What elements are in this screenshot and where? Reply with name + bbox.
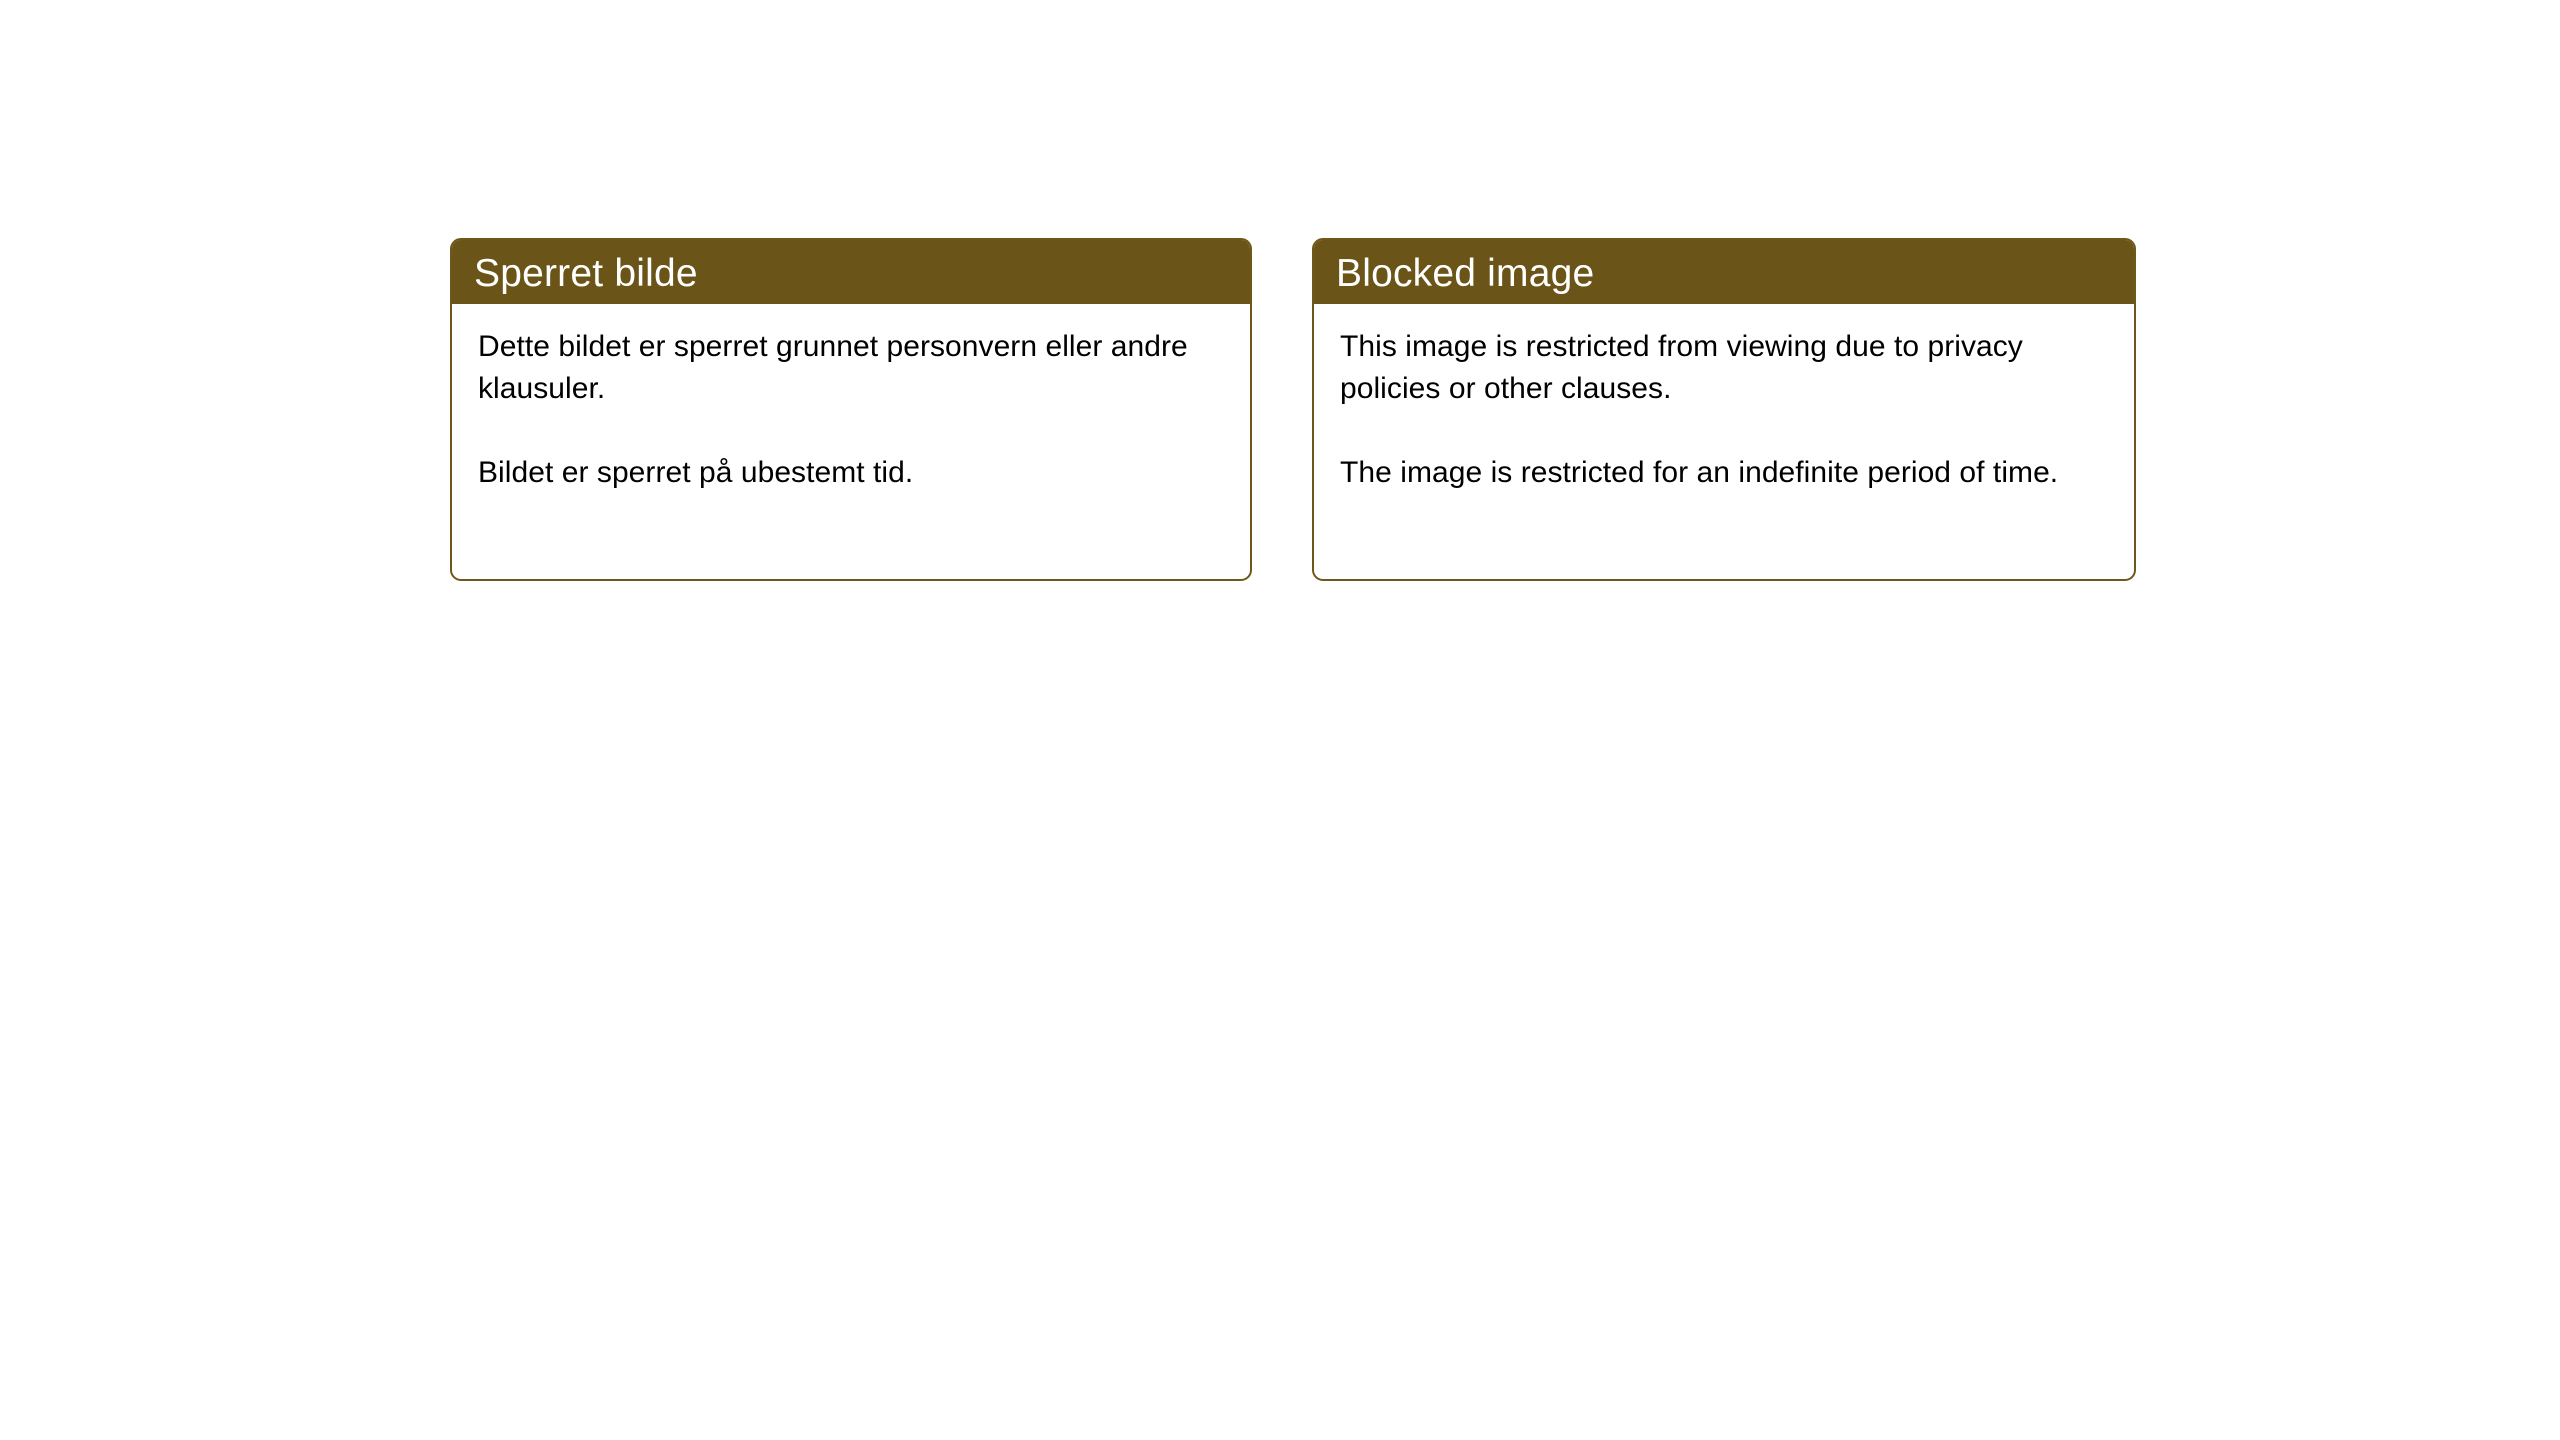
- panel-paragraph-duration-en: The image is restricted for an indefinit…: [1340, 452, 2110, 494]
- panel-title-en: Blocked image: [1336, 254, 1594, 293]
- panel-title-no: Sperret bilde: [474, 254, 698, 293]
- panel-body-no: Dette bildet er sperret grunnet personve…: [452, 304, 1250, 494]
- blocked-image-notice-no: Sperret bilde Dette bildet er sperret gr…: [450, 238, 1252, 581]
- page-root: Sperret bilde Dette bildet er sperret gr…: [0, 0, 2560, 1440]
- panel-header-en: Blocked image: [1314, 240, 2134, 304]
- blocked-image-notice-en: Blocked image This image is restricted f…: [1312, 238, 2136, 581]
- panel-paragraph-reason-no: Dette bildet er sperret grunnet personve…: [478, 326, 1226, 410]
- panel-body-en: This image is restricted from viewing du…: [1314, 304, 2134, 494]
- panel-header-no: Sperret bilde: [452, 240, 1250, 304]
- panel-paragraph-duration-no: Bildet er sperret på ubestemt tid.: [478, 452, 1226, 494]
- panel-paragraph-reason-en: This image is restricted from viewing du…: [1340, 326, 2110, 410]
